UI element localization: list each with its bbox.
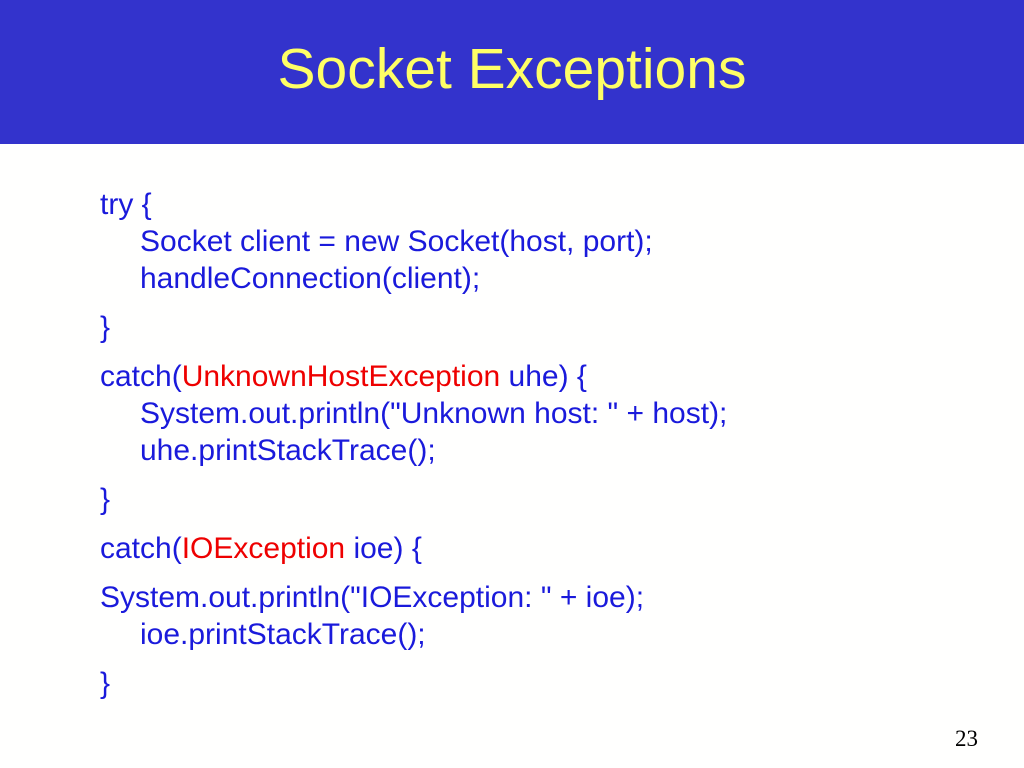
page-number: 23 [955,727,978,750]
code-block-catch-ioe-close-brace: } [100,665,900,702]
exception-type-token: UnknownHostException [182,360,501,393]
code-line: System.out.println("Unknown host: " + ho… [100,395,900,432]
code-block-catch-uhe-close-brace: } [100,481,900,518]
code-token: uhe.printStackTrace(); [140,434,436,467]
code-line: catch(UnknownHostException uhe) { [100,358,900,395]
code-line: ioe.printStackTrace(); [100,616,900,653]
slide-title-banner: Socket Exceptions [0,0,1024,144]
code-line: uhe.printStackTrace(); [100,432,900,469]
code-block-catch-ioexception-body: System.out.println("IOException: " + ioe… [100,579,900,653]
code-token: ioe.printStackTrace(); [140,618,426,651]
code-line: Socket client = new Socket(host, port); [100,223,900,260]
code-token: } [100,483,110,516]
code-block-catch-unknownhostexception-block: catch(UnknownHostException uhe) {System.… [100,358,900,469]
code-token: catch( [100,532,182,565]
code-line: System.out.println("IOException: " + ioe… [100,579,900,616]
code-block-catch-ioexception-header: catch(IOException ioe) { [100,530,900,567]
code-block-try-block: try {Socket client = new Socket(host, po… [100,186,900,297]
code-line: } [100,309,900,346]
exception-type-token: IOException [182,532,345,565]
page-title: Socket Exceptions [278,41,747,104]
code-token: System.out.println("IOException: " + ioe… [100,581,644,614]
code-token: System.out.println("Unknown host: " + ho… [140,397,727,430]
code-block-try-close-brace: } [100,309,900,346]
code-token: try { [100,188,152,221]
code-line: handleConnection(client); [100,260,900,297]
code-token: } [100,667,110,700]
code-line: try { [100,186,900,223]
code-token: uhe) { [500,360,587,393]
code-token: } [100,311,110,344]
code-token: catch( [100,360,182,393]
code-line: } [100,481,900,518]
code-token: ioe) { [345,532,422,565]
code-line: catch(IOException ioe) { [100,530,900,567]
code-token: handleConnection(client); [140,262,480,295]
code-line: } [100,665,900,702]
code-token: Socket client = new Socket(host, port); [140,225,653,258]
code-listing: try {Socket client = new Socket(host, po… [100,186,900,702]
